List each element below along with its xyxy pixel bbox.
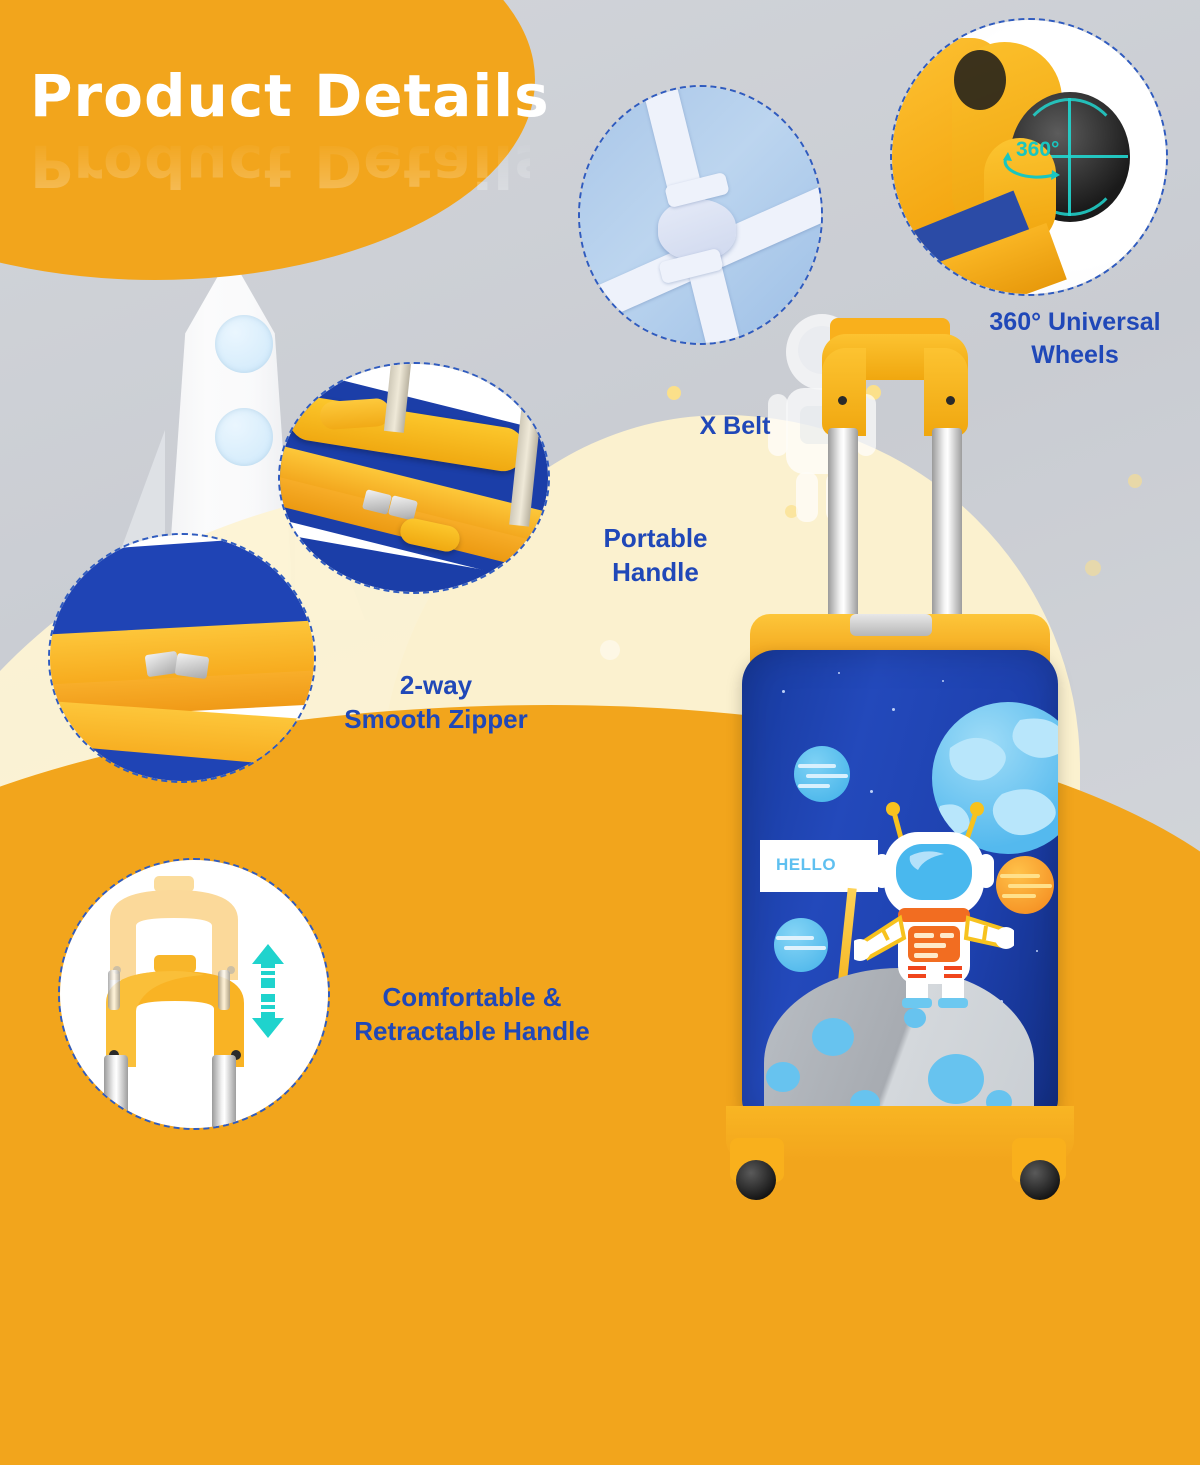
handle-rivet-left xyxy=(838,396,847,405)
arrow-down-icon xyxy=(248,992,288,1040)
decorative-dot xyxy=(1128,474,1142,488)
star xyxy=(838,672,840,674)
hello-sign-text: HELLO xyxy=(776,855,836,875)
page-title: Product Details xyxy=(30,62,530,130)
telescoping-rod-left xyxy=(104,1055,128,1130)
moon-crater xyxy=(928,1054,984,1104)
label-retractable-handle: Comfortable & Retractable Handle xyxy=(322,980,622,1049)
moon-crater xyxy=(904,1008,926,1028)
belt-buckle xyxy=(658,199,736,261)
decorative-dot xyxy=(600,640,620,660)
arrow-up-icon xyxy=(248,942,288,990)
label-line-2: Retractable Handle xyxy=(322,1014,622,1048)
handle-grip-right-arm xyxy=(924,348,968,436)
moon-crater xyxy=(812,1018,854,1056)
callout-universal-wheels[interactable]: 360° xyxy=(890,18,1168,296)
handle-rivet-right xyxy=(946,396,955,405)
wheel-front-right[interactable] xyxy=(1020,1160,1060,1200)
star xyxy=(870,790,873,793)
product-suitcase: HELLO xyxy=(700,318,1100,1200)
callout-retractable-handle[interactable] xyxy=(58,858,330,1130)
caster-axle-cap xyxy=(954,50,1006,110)
star xyxy=(892,708,895,711)
callout-smooth-zipper[interactable] xyxy=(48,533,316,783)
rotation-arrow-icon xyxy=(996,142,1076,186)
label-line-1: Comfortable & xyxy=(322,980,622,1014)
telescoping-rod-right xyxy=(212,1055,236,1130)
rocket-porthole-top xyxy=(215,315,273,373)
telescoping-rod-upper-right xyxy=(218,970,230,1010)
label-smooth-zipper: 2-way Smooth Zipper xyxy=(312,668,560,737)
callout-portable-handle[interactable] xyxy=(278,362,550,594)
handle-grip-left-arm xyxy=(822,348,866,436)
page-title-reflection: Product Details xyxy=(30,132,530,200)
star xyxy=(942,680,944,682)
decorative-dot xyxy=(667,386,681,400)
wheel-front-left[interactable] xyxy=(736,1160,776,1200)
callout-x-belt[interactable] xyxy=(578,85,823,345)
carry-handle-base xyxy=(319,398,391,431)
telescoping-rod-left xyxy=(828,428,858,628)
telescoping-rod-upper-left xyxy=(108,970,120,1010)
zipper-pull-right xyxy=(175,653,210,679)
star xyxy=(782,690,785,693)
telescoping-rod-right xyxy=(932,428,962,628)
ringed-planet-bands-icon xyxy=(794,746,850,802)
moon-crater xyxy=(766,1062,800,1092)
astronaut-illustration xyxy=(854,798,1014,1008)
star xyxy=(1036,950,1038,952)
top-carry-handle xyxy=(850,614,932,636)
small-planet-bands-icon xyxy=(774,918,828,972)
case-shell: HELLO xyxy=(742,650,1058,1120)
label-line-2: Smooth Zipper xyxy=(312,702,560,736)
label-line-1: 2-way xyxy=(312,668,560,702)
rocket-porthole-bottom xyxy=(215,408,273,466)
product-details-infographic: Product Details Product Details X Belt 3… xyxy=(0,0,1200,1200)
page-title-group: Product Details Product Details xyxy=(30,62,530,200)
